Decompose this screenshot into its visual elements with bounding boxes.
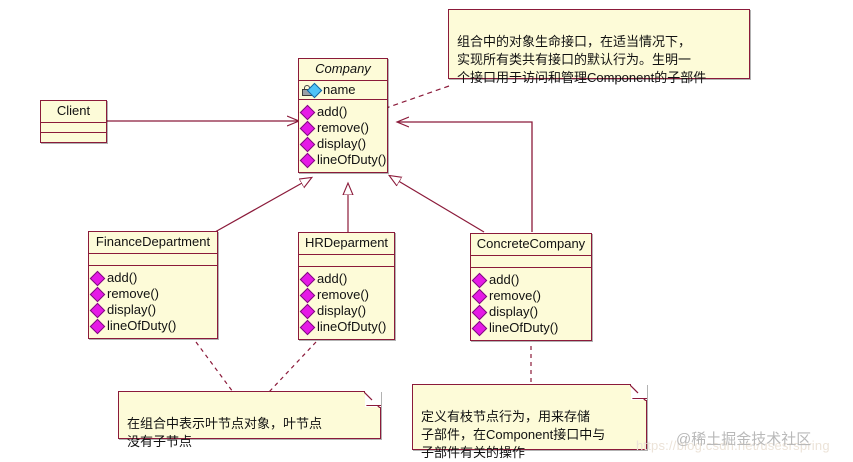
edge-finance-generalization [215,178,311,232]
note-anchor-component [386,86,449,108]
operation-diamond-icon [472,289,488,305]
note-leaf: 在组合中表示叶节点对象，叶节点 没有子节点 [118,391,381,439]
watermark-brand: @稀土掘金技术社区 [676,428,811,449]
operation-row: remove() [474,288,588,304]
edge-concretecompany-generalization [390,176,484,232]
operation-label: lineOfDuty() [488,320,558,336]
operation-row: remove() [92,286,214,302]
operation-diamond-icon [90,287,106,303]
class-operations-client [41,133,106,142]
class-attributes-company: name [299,81,387,100]
class-operations-finance-department: add() remove() display() lineOfDuty() [89,266,217,338]
operation-diamond-icon [300,272,316,288]
uml-diagram-canvas: Company (association, open arrow) --> Co… [0,0,853,462]
class-box-concrete-company[interactable]: ConcreteCompany add() remove() display()… [470,233,592,341]
operation-label: add() [316,104,347,120]
class-title-concrete-company: ConcreteCompany [471,234,591,256]
note-component: 组合中的对象生命接口，在适当情况下， 实现所有类共有接口的默认行为。生明一 个接… [448,9,750,79]
operation-label: lineOfDuty() [106,318,176,334]
class-attributes-client [41,123,106,133]
operation-diamond-icon [300,153,316,169]
operation-row: display() [92,302,214,318]
class-attributes-finance-department [89,254,217,266]
operation-row: add() [92,270,214,286]
operation-row: lineOfDuty() [92,318,214,334]
attribute-label: name [322,82,356,98]
operation-row: display() [474,304,588,320]
operation-row: lineOfDuty() [474,320,588,336]
operation-diamond-icon [300,137,316,153]
operation-row: lineOfDuty() [302,152,384,168]
operation-label: remove() [316,120,369,136]
class-box-company[interactable]: Company name add() remove() display() [298,58,388,173]
operation-label: display() [316,303,366,319]
operation-diamond-icon [300,320,316,336]
note-component-text: 组合中的对象生命接口，在适当情况下， 实现所有类共有接口的默认行为。生明一 个接… [457,34,706,85]
operation-diamond-icon [300,304,316,320]
operation-diamond-icon [300,105,316,121]
note-composite-text: 定义有枝节点行为，用来存储 子部件，在Component接口中与 子部件有关的操… [421,409,605,460]
operation-diamond-icon [90,319,106,335]
operation-label: add() [316,271,347,287]
operation-label: remove() [316,287,369,303]
operation-diamond-icon [472,321,488,337]
operation-label: lineOfDuty() [316,319,386,335]
operation-row: remove() [302,287,391,303]
operation-label: remove() [106,286,159,302]
operation-label: display() [488,304,538,320]
operation-row: add() [302,104,384,120]
operation-diamond-icon [90,271,106,287]
class-title-finance-department: FinanceDepartment [89,232,217,254]
operation-row: add() [302,271,391,287]
operation-row: display() [302,303,391,319]
class-attributes-concrete-company [471,256,591,268]
class-attributes-hr-deparment [299,255,394,267]
operation-label: lineOfDuty() [316,152,386,168]
operation-diamond-icon [300,288,316,304]
class-title-client: Client [41,101,106,123]
attribute-row: name [302,82,384,98]
note-fold-icon [630,385,646,401]
operation-diamond-icon [472,305,488,321]
operation-row: lineOfDuty() [302,319,391,335]
class-operations-concrete-company: add() remove() display() lineOfDuty() [471,268,591,340]
class-title-company: Company [299,59,387,81]
note-composite: 定义有枝节点行为，用来存储 子部件，在Component接口中与 子部件有关的操… [412,384,647,450]
operation-label: display() [106,302,156,318]
operation-row: remove() [302,120,384,136]
class-box-finance-department[interactable]: FinanceDepartment add() remove() display… [88,231,218,339]
class-title-hr-deparment: HRDeparment [299,233,394,255]
note-anchor-leaf-hr [269,342,316,392]
operation-row: display() [302,136,384,152]
note-leaf-text: 在组合中表示叶节点对象，叶节点 没有子节点 [127,416,322,449]
operation-diamond-icon [300,121,316,137]
operation-label: remove() [488,288,541,304]
note-fold-icon [364,392,380,408]
class-operations-hr-deparment: add() remove() display() lineOfDuty() [299,267,394,339]
operation-label: add() [106,270,137,286]
operation-row: add() [474,272,588,288]
class-box-client[interactable]: Client [40,100,107,143]
class-box-hr-deparment[interactable]: HRDeparment add() remove() display() lin… [298,232,395,340]
operation-label: add() [488,272,519,288]
edge-concretecompany-association [398,122,532,232]
note-anchor-leaf-finance [196,342,233,392]
operation-diamond-icon [90,303,106,319]
class-operations-company: add() remove() display() lineOfDuty() [299,100,387,172]
operation-label: display() [316,136,366,152]
operation-diamond-icon [472,273,488,289]
